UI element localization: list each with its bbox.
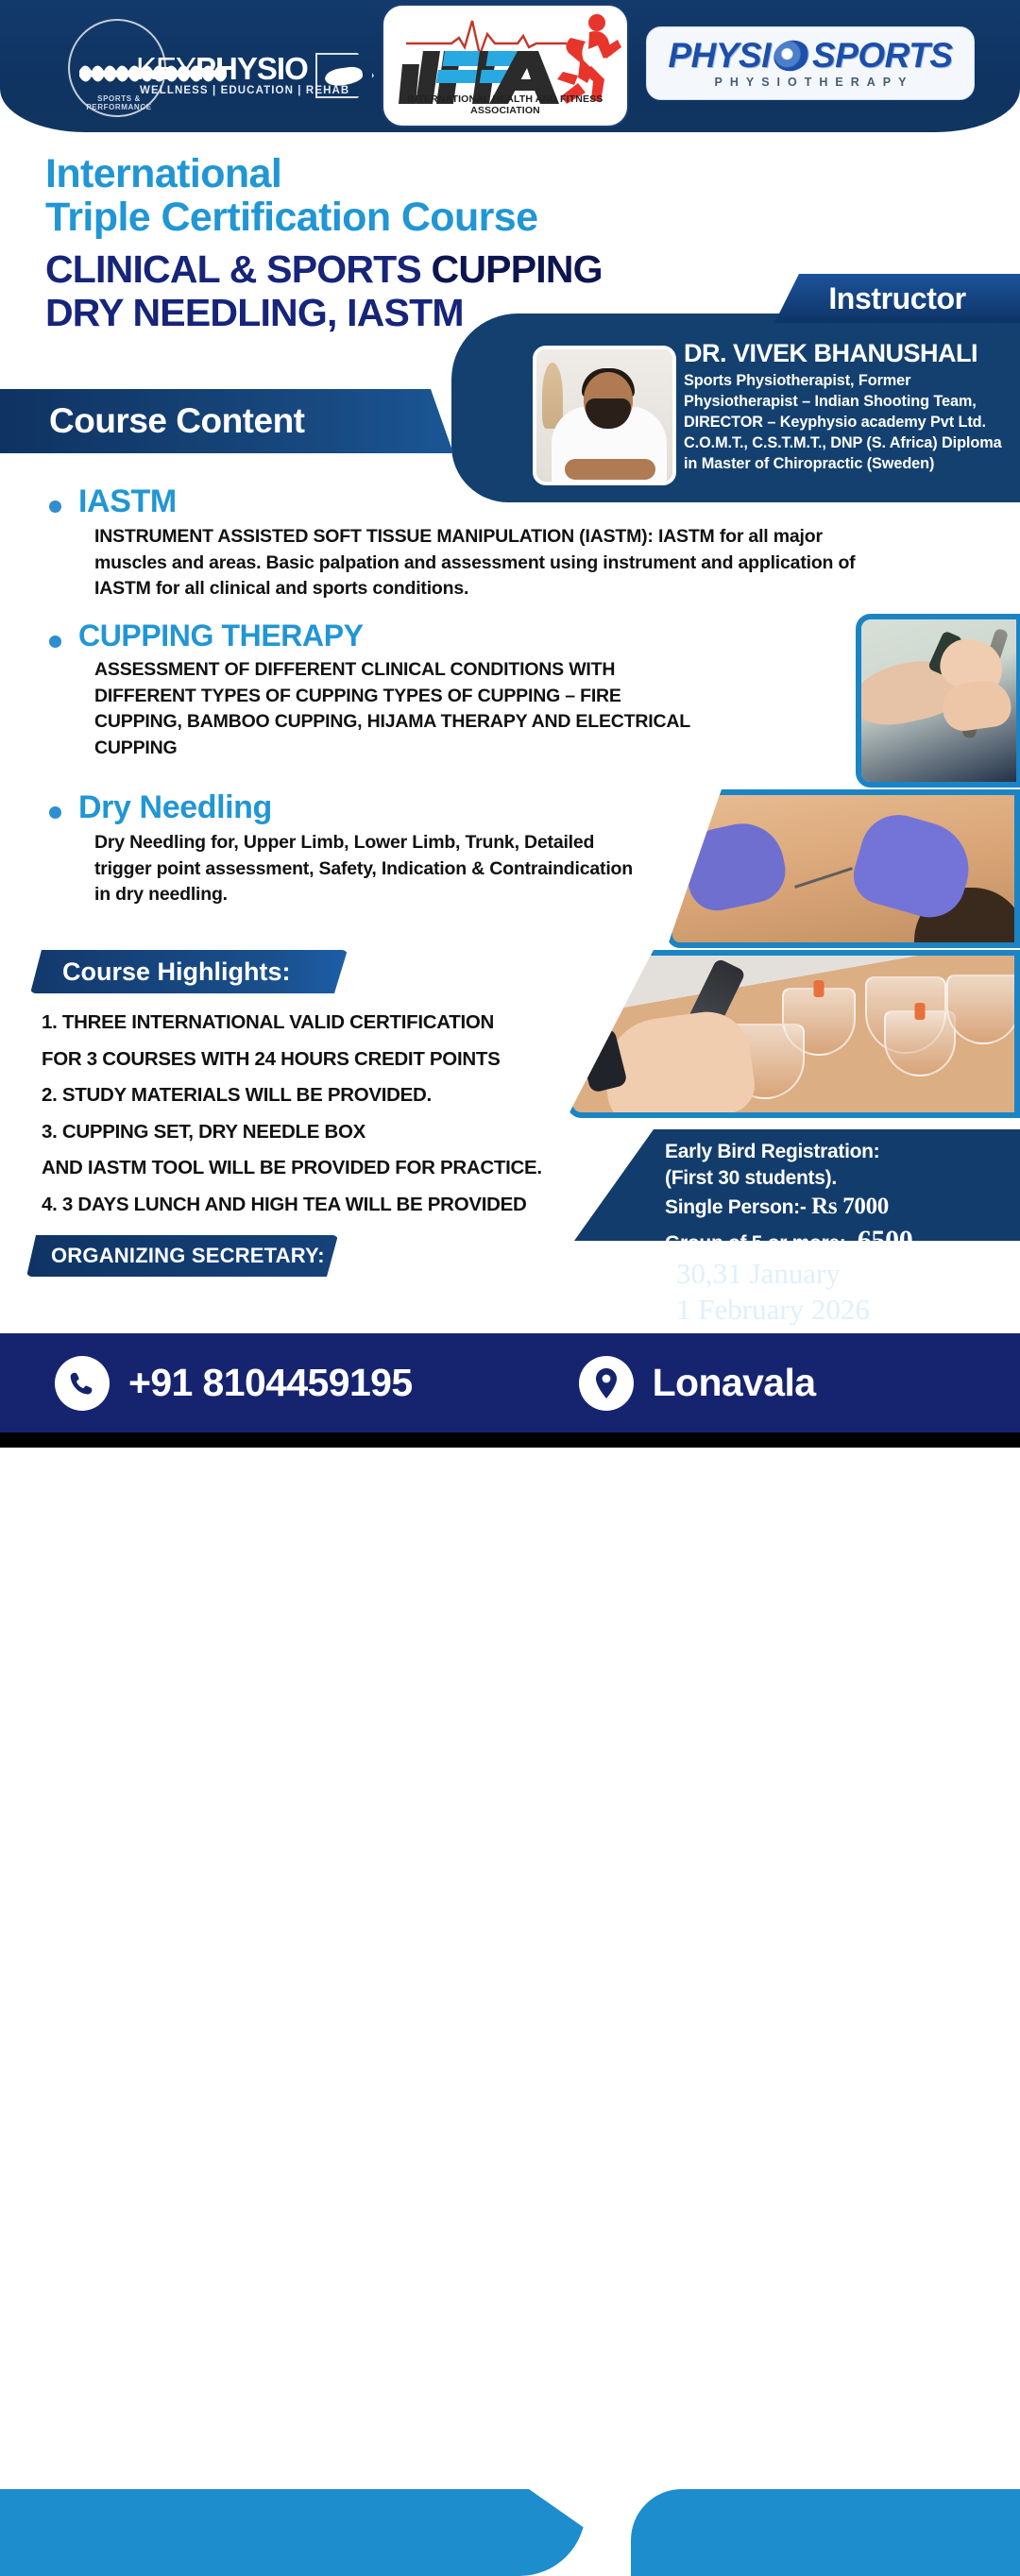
list-item: AND IASTM TOOL WILL BE PROVIDED FOR PRAC… — [42, 1150, 618, 1187]
bullet-icon — [49, 806, 61, 819]
title-line-3: CLINICAL & SPORTS CUPPING — [45, 248, 763, 292]
phone-icon — [55, 1356, 110, 1411]
course-highlights-badge: Course Highlights: — [30, 950, 348, 993]
cupping-therapy-photo — [567, 950, 1020, 1118]
title-line-2: Triple Certification Course — [45, 196, 763, 240]
section-title: Dry Needling — [78, 789, 272, 826]
dates-band — [631, 2489, 1020, 2576]
section-title: CUPPING THERAPY — [78, 619, 364, 653]
instructor-badge-label: Instructor — [828, 281, 965, 316]
organizing-secretary-badge: ORGANIZING SECRETARY: — [26, 1235, 338, 1277]
course-highlights-label: Course Highlights: — [62, 958, 291, 987]
section-title: IASTM — [78, 483, 177, 520]
sports-orb-icon — [770, 35, 813, 75]
keyphysio-word-bold: PHYSIO — [195, 51, 308, 86]
single-person-label: Single Person:- — [665, 1196, 811, 1218]
physio-sports-word2: SPORTS — [812, 38, 952, 73]
title-line-3b: CUPPING — [432, 247, 603, 291]
course-highlights-list: 1. THREE INTERNATIONAL VALID CERTIFICATI… — [42, 1005, 618, 1223]
section-cupping-therapy: CUPPING THERAPY ASSESSMENT OF DIFFERENT … — [49, 619, 710, 762]
list-item: 2. STUDY MATERIALS WILL BE PROVIDED. — [42, 1077, 618, 1114]
section-iastm: IASTM INSTRUMENT ASSISTED SOFT TISSUE MA… — [49, 483, 899, 602]
instructor-name: DR. VIVEK BHANUSHALI — [684, 340, 1012, 366]
course-dates: 30,31 January 1 February 2026 — [676, 1256, 870, 1328]
bullet-icon — [49, 636, 61, 648]
keyphysio-arrow-icon — [315, 53, 374, 98]
instructor-photo — [533, 346, 676, 485]
poster-footer: +91 8104459195 Lonavala — [0, 1333, 1020, 1432]
ihfa-caption: INTERNATIONAL HEALTH AND FITNESS ASSOCIA… — [383, 93, 627, 116]
early-bird-line-1: Early Bird Registration: — [665, 1139, 1020, 1165]
section-body: INSTRUMENT ASSISTED SOFT TISSUE MANIPULA… — [94, 524, 899, 602]
physio-sports-logo: PHYSI SPORTS PHYSIOTHERAPY — [646, 26, 975, 100]
instructor-bio: Sports Physiotherapist, Former Physiothe… — [684, 370, 1005, 474]
phone-number: +91 8104459195 — [128, 1361, 413, 1405]
organizing-secretary-label: ORGANIZING SECRETARY: — [51, 1244, 325, 1268]
early-bird-line-2: (First 30 students). — [665, 1165, 1020, 1192]
title-line-3a: CLINICAL & SPORTS — [45, 247, 432, 291]
list-item: 3. CUPPING SET, DRY NEEDLE BOX — [42, 1114, 618, 1151]
date-line-2: 1 February 2026 — [676, 1292, 870, 1328]
location-pin-icon — [579, 1356, 634, 1411]
ihfa-logo: INTERNATIONAL HEALTH AND FITNESS ASSOCIA… — [382, 4, 629, 127]
contact-phone[interactable]: +91 8104459195 — [55, 1356, 413, 1411]
dry-needling-photo — [667, 789, 1020, 948]
early-bird-single: Single Person:- Rs 7000 — [665, 1191, 1020, 1222]
organizer-name: Dr. Mahesh shinde — [42, 1282, 335, 1322]
single-person-price: Rs 7000 — [811, 1194, 889, 1219]
list-item: 1. THREE INTERNATIONAL VALID CERTIFICATI… — [42, 1005, 618, 1042]
section-body: ASSESSMENT OF DIFFERENT CLINICAL CONDITI… — [94, 657, 710, 762]
instructor-badge: Instructor — [774, 274, 1020, 323]
iastm-tool-photo — [856, 614, 1020, 788]
physio-sports-word1: PHYSI — [668, 38, 771, 73]
poster-title: International Triple Certification Cours… — [45, 153, 763, 335]
calendar-icon — [582, 1263, 629, 1313]
poster-header: KEYPHYSIO WELLNESS | EDUCATION | REHAB S… — [0, 0, 1020, 132]
keyphysio-tagline: SPORTS & PERFORMANCE — [72, 94, 166, 119]
course-content-label: Course Content — [49, 401, 305, 441]
physio-sports-wordmark: PHYSI SPORTS — [668, 38, 952, 73]
date-line-1: 30,31 January — [676, 1256, 870, 1292]
contact-location[interactable]: Lonavala — [579, 1356, 816, 1411]
physio-sports-subtitle: PHYSIOTHERAPY — [707, 76, 914, 89]
organizer-left-band — [0, 2489, 586, 2576]
keyphysio-logo: KEYPHYSIO WELLNESS | EDUCATION | REHAB S… — [59, 17, 370, 117]
section-dry-needling: Dry Needling Dry Needling for, Upper Lim… — [49, 789, 654, 908]
footer-bottom-bar — [0, 1432, 1020, 1448]
keyphysio-word-light: KEY — [136, 51, 195, 86]
title-line-1: International — [45, 153, 763, 196]
list-item: 4. 3 DAYS LUNCH AND HIGH TEA WILL BE PRO… — [42, 1187, 618, 1224]
keyphysio-wordmark: KEYPHYSIO — [136, 51, 308, 87]
location-name: Lonavala — [653, 1361, 816, 1405]
list-item: FOR 3 COURSES WITH 24 HOURS CREDIT POINT… — [42, 1042, 618, 1078]
section-body: Dry Needling for, Upper Limb, Lower Limb… — [94, 830, 654, 908]
course-content-banner: Course Content — [0, 389, 453, 453]
bullet-icon — [49, 500, 61, 513]
